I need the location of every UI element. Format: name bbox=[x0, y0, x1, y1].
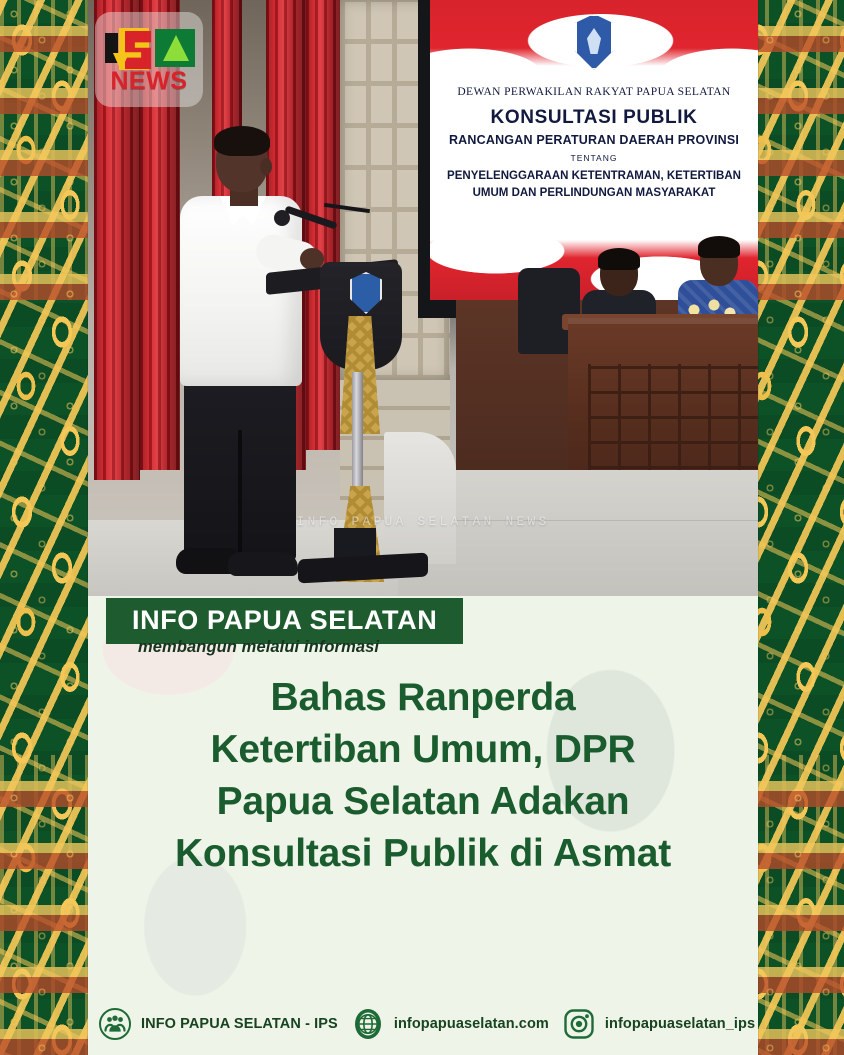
slide-text-block: DEWAN PERWAKILAN RAKYAT PAPUA SELATAN KO… bbox=[430, 86, 758, 201]
logo-letter-s bbox=[125, 31, 151, 69]
brand-tagline: membangun melalui informasi bbox=[138, 638, 379, 657]
slide-line-tentang: TENTANG bbox=[440, 153, 748, 163]
photo-watermark: INFO PAPUA SELATAN NEWS bbox=[88, 514, 758, 529]
ips-logo-mark-icon bbox=[101, 23, 197, 75]
people-group-icon bbox=[98, 1007, 132, 1041]
headline: Bahas Ranperda Ketertiban Umum, DPR Papu… bbox=[106, 672, 740, 879]
news-photo: DEWAN PERWAKILAN RAKYAT PAPUA SELATAN KO… bbox=[88, 0, 758, 596]
footer-label-facebook-page: INFO PAPUA SELATAN - IPS bbox=[141, 1016, 338, 1032]
slide-line-topic: PENYELENGGARAAN KETENTRAMAN, KETERTIBAN … bbox=[440, 168, 748, 201]
footer-social-bar: INFO PAPUA SELATAN - IPS infopapuaselata… bbox=[98, 1007, 748, 1041]
globe-icon bbox=[351, 1007, 385, 1041]
ips-news-logo: NEWS bbox=[95, 12, 203, 107]
footer-label-website: infopapuaselatan.com bbox=[394, 1016, 549, 1032]
speaker-leg-split bbox=[238, 430, 242, 560]
poster: DEWAN PERWAKILAN RAKYAT PAPUA SELATAN KO… bbox=[0, 0, 844, 1055]
headline-line-3: Papua Selatan Adakan bbox=[106, 776, 740, 828]
podium-step bbox=[384, 432, 456, 564]
speaker-shoe bbox=[228, 552, 298, 576]
speaker-hair bbox=[214, 126, 270, 156]
instagram-icon bbox=[562, 1007, 596, 1041]
panelist-hair bbox=[698, 236, 740, 258]
content-card: DEWAN PERWAKILAN RAKYAT PAPUA SELATAN KO… bbox=[88, 0, 758, 1055]
slide-line-subtitle: RANCANGAN PERATURAN DAERAH PROVINSI bbox=[440, 133, 748, 147]
brand-banner-title: INFO PAPUA SELATAN bbox=[132, 605, 437, 635]
slide-line-title: KONSULTASI PUBLIK bbox=[440, 107, 748, 129]
headline-line-2: Ketertiban Umum, DPR bbox=[106, 724, 740, 776]
footer-label-instagram: infopapuaselatan_ips bbox=[605, 1016, 755, 1032]
footer-item-website[interactable]: infopapuaselatan.com bbox=[351, 1007, 549, 1041]
footer-item-instagram[interactable]: infopapuaselatan_ips bbox=[562, 1007, 755, 1041]
footer-item-facebook-page[interactable]: INFO PAPUA SELATAN - IPS bbox=[98, 1007, 338, 1041]
headline-line-4: Konsultasi Publik di Asmat bbox=[106, 828, 740, 880]
headline-line-1: Bahas Ranperda bbox=[106, 672, 740, 724]
panelist-hair bbox=[598, 248, 640, 270]
speaker-ear bbox=[260, 158, 272, 175]
slide-line-institution: DEWAN PERWAKILAN RAKYAT PAPUA SELATAN bbox=[440, 86, 748, 98]
